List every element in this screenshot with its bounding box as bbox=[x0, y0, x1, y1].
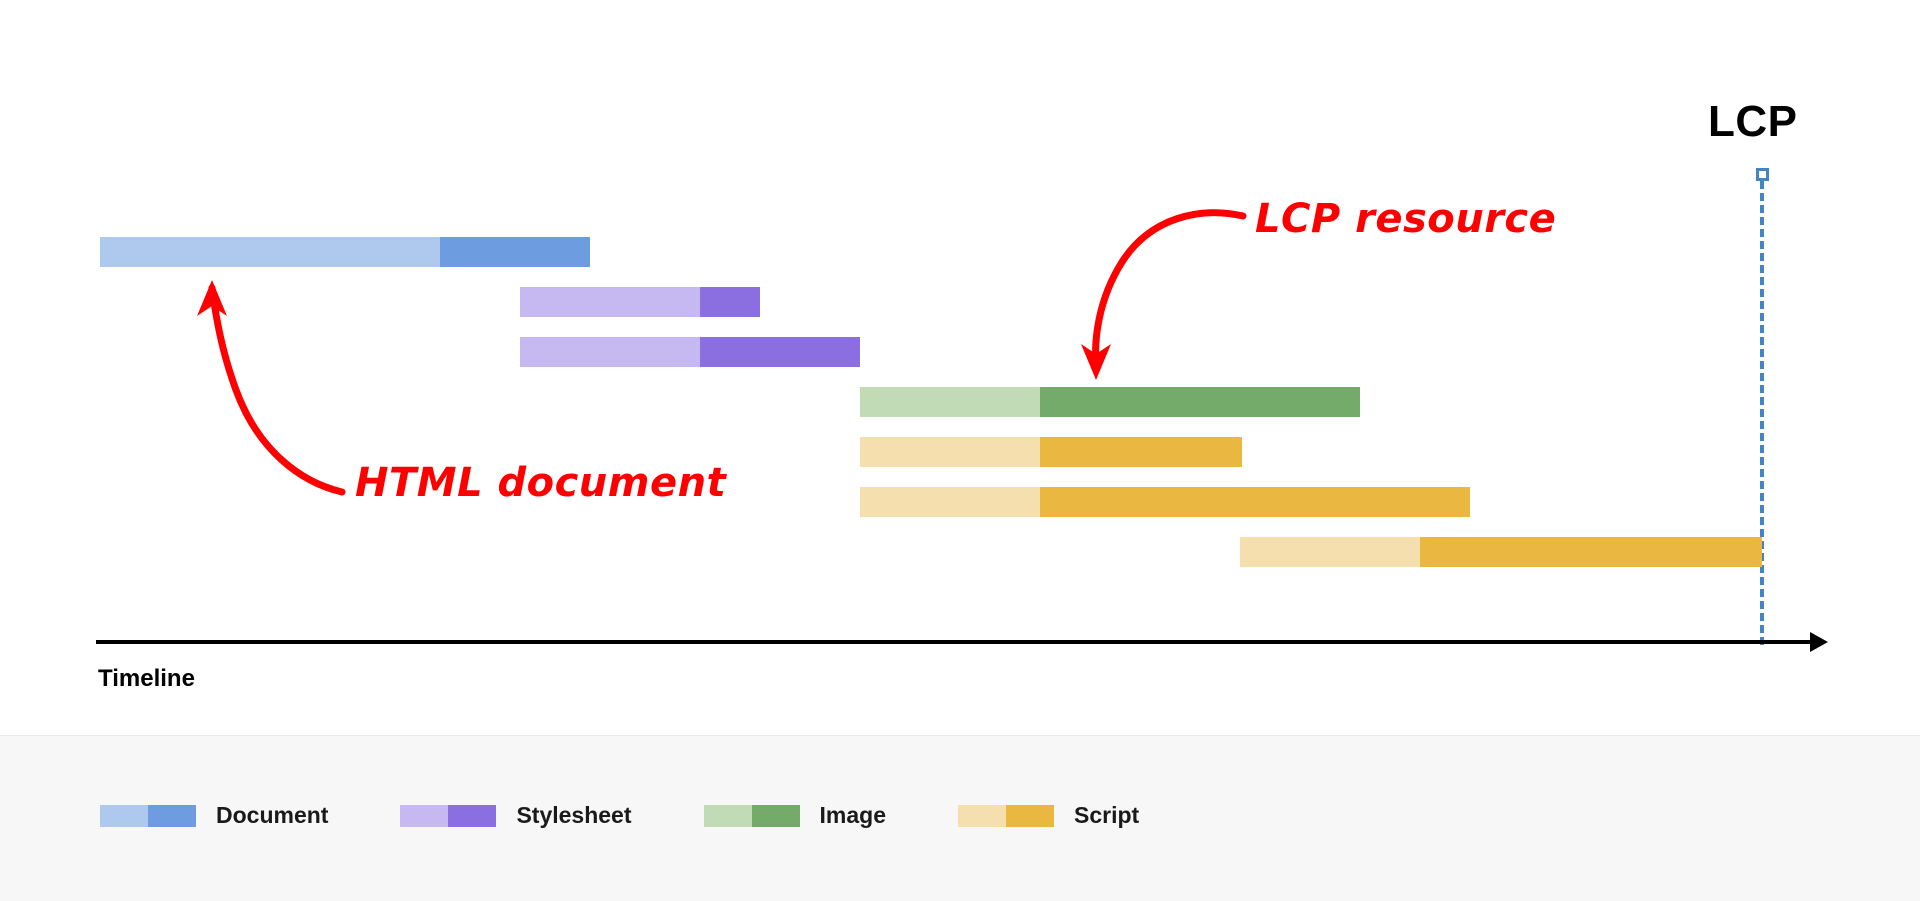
bar-segment-load bbox=[700, 337, 860, 367]
legend-swatch-document bbox=[100, 805, 196, 827]
lcp-label: LCP bbox=[1708, 100, 1798, 144]
bar-segment-wait bbox=[860, 437, 1040, 467]
legend-item-image[interactable]: Image bbox=[704, 802, 886, 829]
figure-root: LCP HTML document LCP resource Timeline bbox=[0, 0, 1920, 900]
legend-swatch-wait bbox=[100, 805, 148, 827]
bar-segment-wait bbox=[860, 387, 1040, 417]
lcp-marker-dashed-line bbox=[1760, 181, 1764, 645]
annotation-html-document: HTML document bbox=[355, 460, 726, 506]
legend-swatch-script bbox=[958, 805, 1054, 827]
legend-swatch-load bbox=[1006, 805, 1054, 827]
bar-segment-wait bbox=[520, 337, 700, 367]
bar-segment-load bbox=[1040, 487, 1470, 517]
timeline-axis bbox=[96, 640, 1812, 644]
timeline-label: Timeline bbox=[98, 665, 195, 693]
legend-label-document: Document bbox=[216, 802, 328, 829]
legend-swatch-load bbox=[148, 805, 196, 827]
bar-segment-load bbox=[700, 287, 760, 317]
bar-segment-load bbox=[1420, 537, 1762, 567]
waterfall-bar-image bbox=[860, 387, 1360, 417]
legend-swatch-image bbox=[704, 805, 800, 827]
bar-segment-wait bbox=[520, 287, 700, 317]
legend-label-stylesheet: Stylesheet bbox=[516, 802, 631, 829]
bar-segment-wait bbox=[100, 237, 440, 267]
timeline-arrow-icon bbox=[1810, 632, 1828, 652]
annotation-lcp-resource: LCP resource bbox=[1255, 196, 1556, 242]
legend-label-image: Image bbox=[820, 802, 886, 829]
waterfall-bar-script bbox=[860, 487, 1470, 517]
legend-swatch-wait bbox=[958, 805, 1006, 827]
annotation-arrows bbox=[0, 0, 1920, 735]
lcp-marker-handle bbox=[1756, 168, 1769, 181]
legend-swatch-wait bbox=[704, 805, 752, 827]
legend-swatch-load bbox=[448, 805, 496, 827]
legend-items: DocumentStylesheetImageScript bbox=[100, 802, 1211, 829]
bar-segment-wait bbox=[1240, 537, 1420, 567]
waterfall-bar-script bbox=[860, 437, 1242, 467]
bar-segment-load bbox=[1040, 437, 1242, 467]
legend-item-script[interactable]: Script bbox=[958, 802, 1139, 829]
legend-swatch-load bbox=[752, 805, 800, 827]
waterfall-bar-script bbox=[1240, 537, 1762, 567]
bar-segment-wait bbox=[860, 487, 1040, 517]
bar-segment-load bbox=[1040, 387, 1360, 417]
legend-item-document[interactable]: Document bbox=[100, 802, 328, 829]
lcp-resource-arrow-icon bbox=[1081, 213, 1243, 380]
legend-label-script: Script bbox=[1074, 802, 1139, 829]
html-document-arrow-icon bbox=[197, 280, 342, 492]
waterfall-chart-area: LCP HTML document LCP resource Timeline bbox=[0, 0, 1920, 735]
waterfall-bar-stylesheet bbox=[520, 337, 860, 367]
waterfall-bar-stylesheet bbox=[520, 287, 760, 317]
legend-panel: DocumentStylesheetImageScript bbox=[0, 735, 1920, 901]
legend-item-stylesheet[interactable]: Stylesheet bbox=[400, 802, 631, 829]
legend-swatch-stylesheet bbox=[400, 805, 496, 827]
legend-swatch-wait bbox=[400, 805, 448, 827]
waterfall-bar-document bbox=[100, 237, 590, 267]
bar-segment-load bbox=[440, 237, 590, 267]
